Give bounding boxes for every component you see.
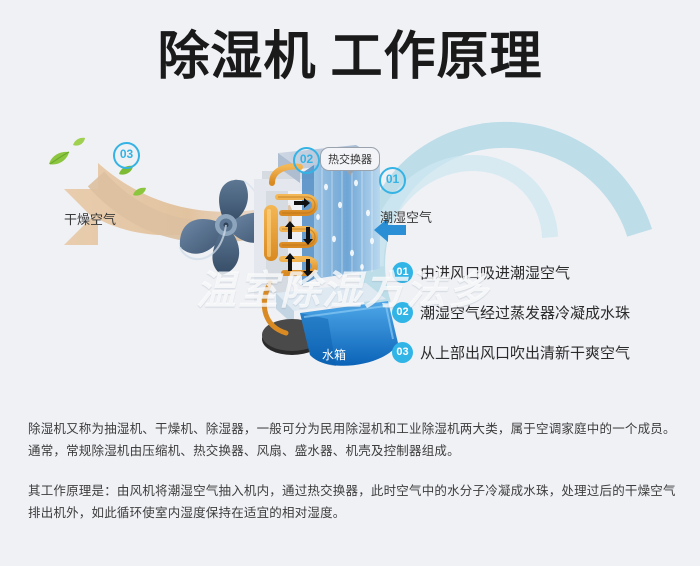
leaf-icon: [72, 137, 86, 147]
step-badge-03: 03: [392, 342, 413, 363]
page-title: 除湿机工作原理: [0, 28, 700, 88]
badge-01-moist-air: 01: [379, 167, 406, 194]
step-text-01: 由进风口吸进潮湿空气: [420, 262, 570, 283]
step-badge-02: 02: [392, 302, 413, 323]
paragraph-2: 其工作原理是：由风机将潮湿空气抽入机内，通过热交换器，此时空气中的水分子冷凝成水…: [28, 480, 676, 524]
leaf-icon: [132, 187, 147, 197]
label-moist-air: 潮湿空气: [380, 207, 432, 226]
poster-root: 除湿机工作原理: [0, 0, 700, 566]
step-list: 01 由进风口吸进潮湿空气 02 潮湿空气经过蒸发器冷凝成水珠 03 从上部出风…: [392, 252, 692, 372]
list-item: 01 由进风口吸进潮湿空气: [392, 252, 692, 292]
step-text-02: 潮湿空气经过蒸发器冷凝成水珠: [420, 302, 630, 323]
title-part-2: 工作原理: [331, 27, 543, 87]
label-dry-air: 干燥空气: [64, 209, 116, 228]
label-water-tank: 水箱: [322, 346, 346, 363]
paragraph-1: 除湿机又称为抽湿机、干燥机、除湿器，一般可分为民用除湿机和工业除湿机两大类，属于…: [28, 418, 676, 462]
step-badge-01: 01: [392, 262, 413, 283]
bubble-heat-exchanger: 热交换器: [320, 147, 380, 171]
leaf-icon: [48, 151, 70, 166]
badge-03-dry-air: 03: [113, 142, 140, 169]
list-item: 03 从上部出风口吹出清新干爽空气: [392, 332, 692, 372]
badge-02-heat-exchanger: 02: [293, 147, 320, 174]
body-copy: 除湿机又称为抽湿机、干燥机、除湿器，一般可分为民用除湿机和工业除湿机两大类，属于…: [28, 418, 676, 524]
step-text-03: 从上部出风口吹出清新干爽空气: [420, 342, 630, 363]
list-item: 02 潮湿空气经过蒸发器冷凝成水珠: [392, 292, 692, 332]
title-part-1: 除湿机: [157, 27, 316, 87]
